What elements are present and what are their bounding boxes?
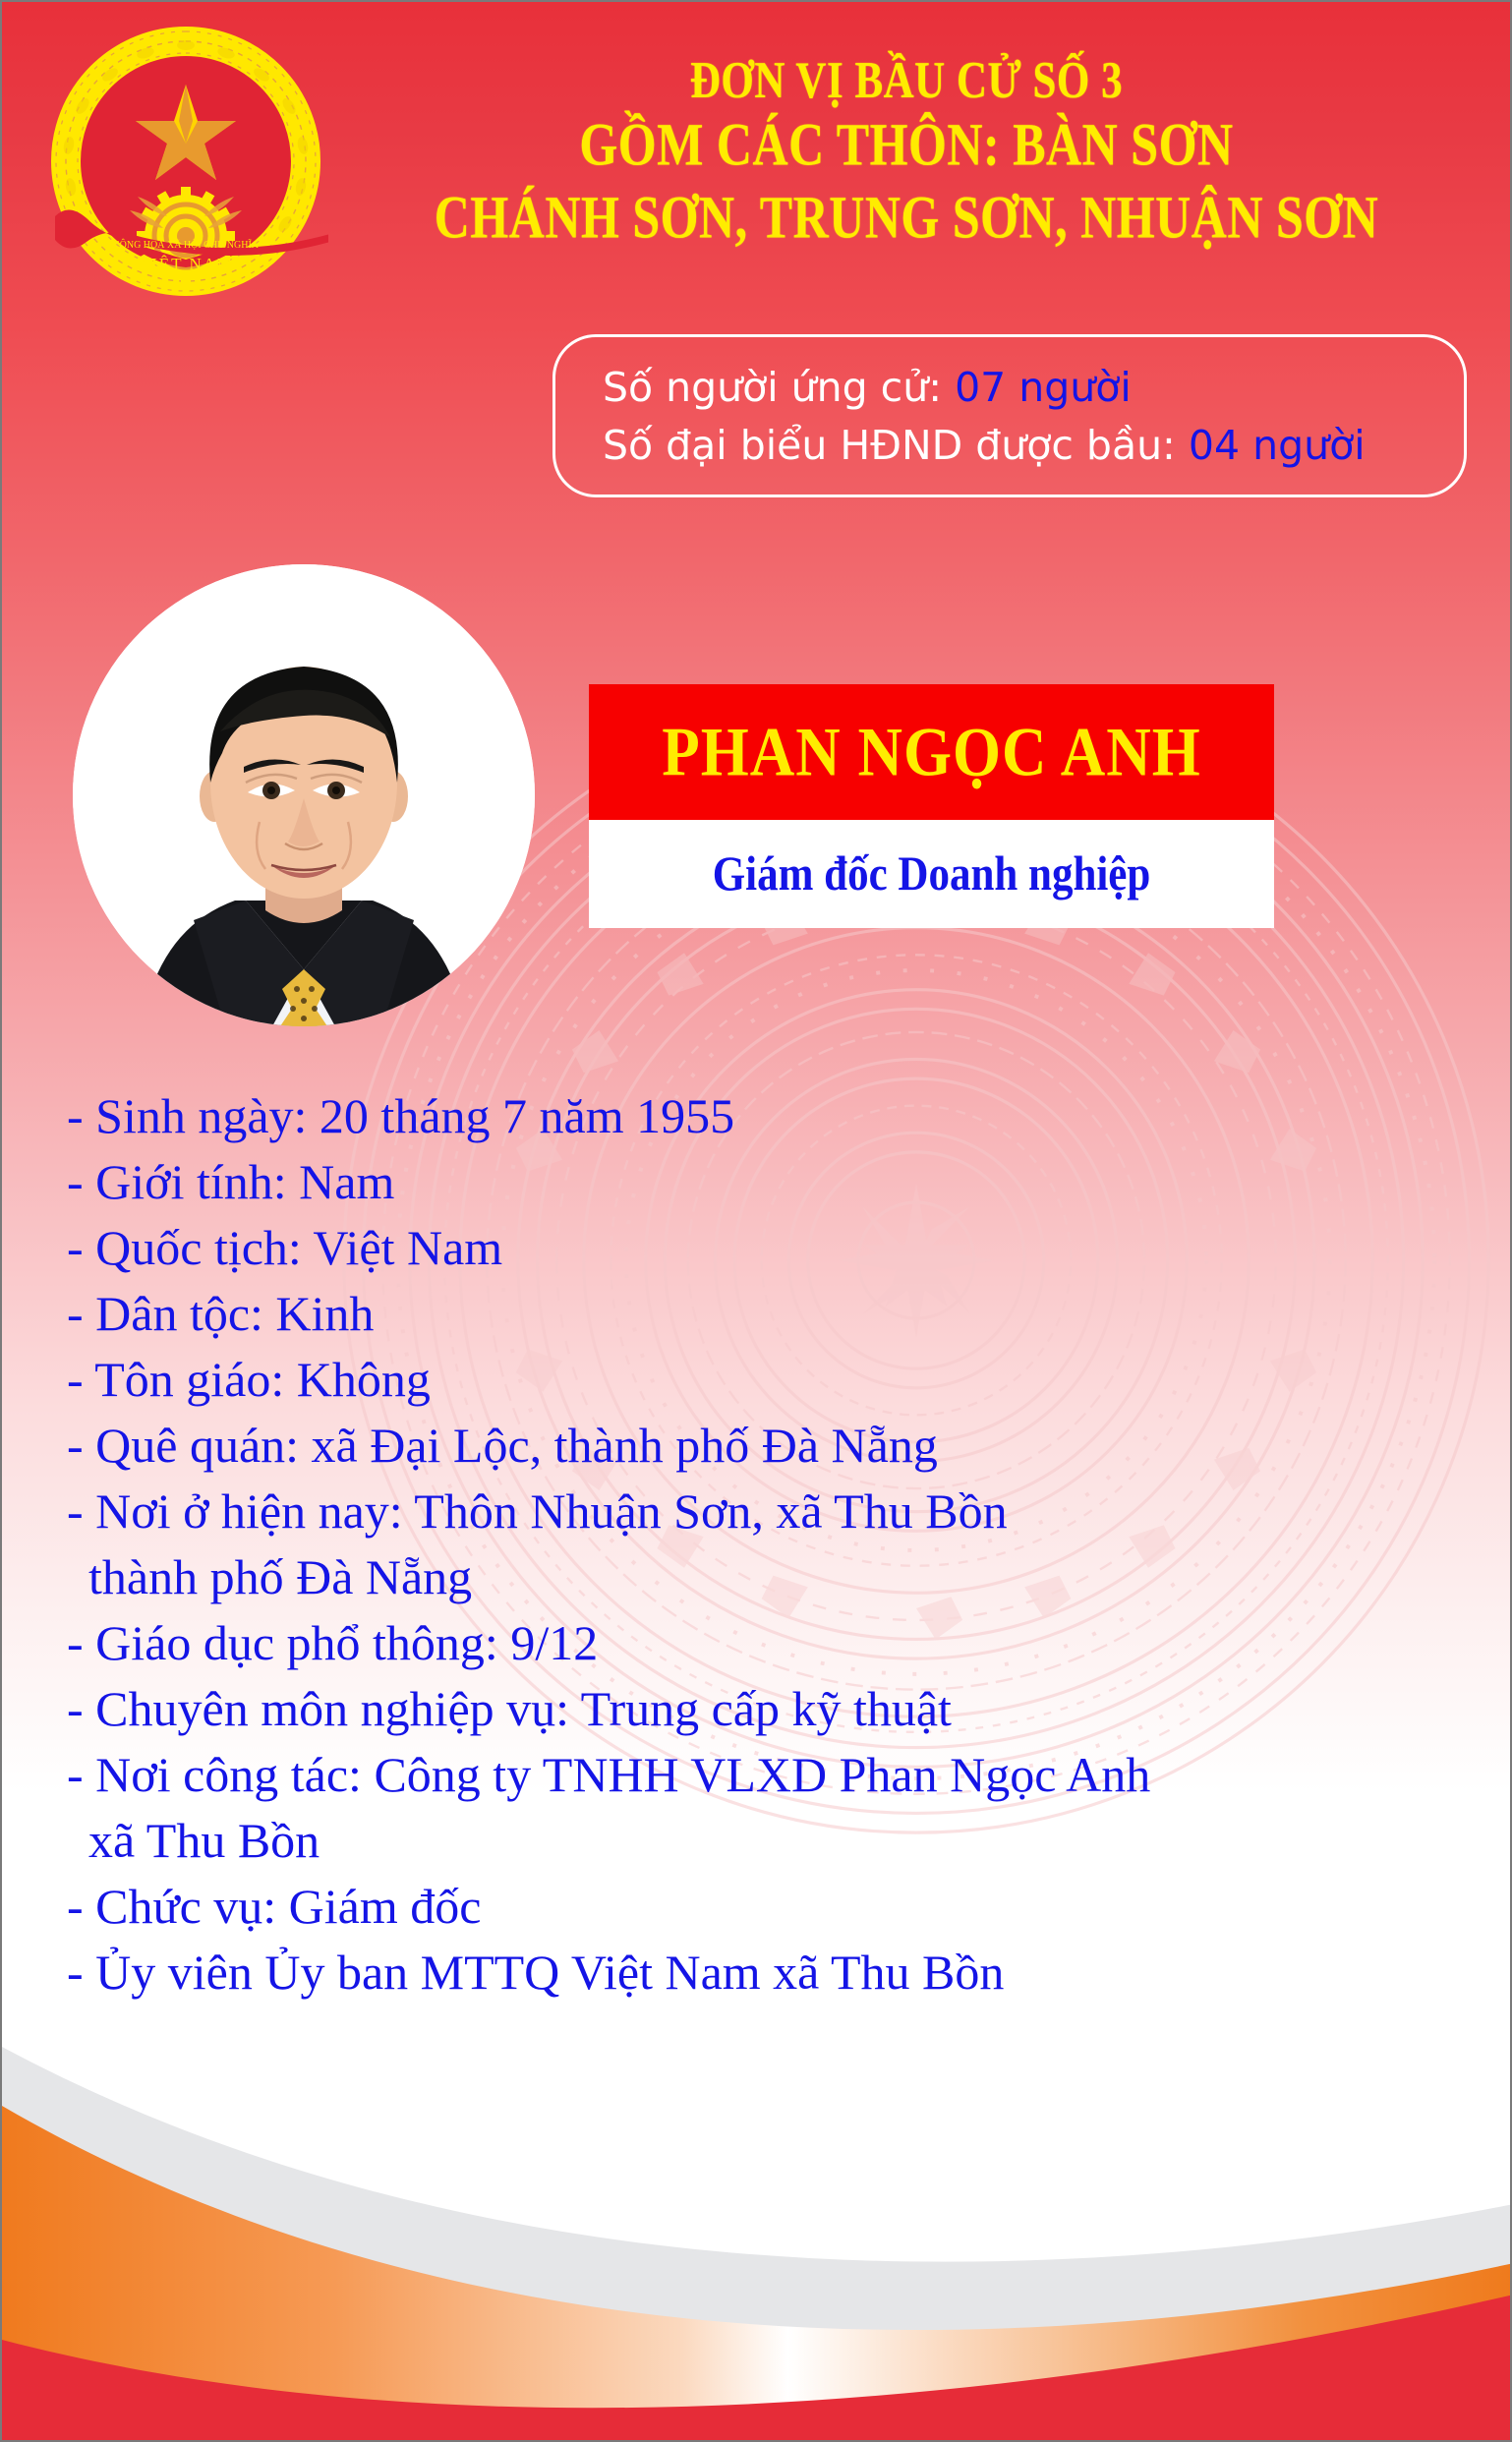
- candidate-name-block: PHAN NGỌC ANH Giám đốc Doanh nghiệp: [589, 684, 1274, 928]
- bio-line: - Dân tộc: Kinh: [67, 1281, 1473, 1347]
- candidate-name-banner: PHAN NGỌC ANH: [589, 684, 1274, 820]
- vietnam-national-emblem-icon: CỘNG HOÀ XÃ HỘI CHỦ NGHĨA VIỆT NAM: [43, 24, 328, 319]
- candidate-role-banner: Giám đốc Doanh nghiệp: [589, 820, 1274, 928]
- bio-line: - Chức vụ: Giám đốc: [67, 1874, 1473, 1940]
- election-counts-box: Số người ứng cử: 07 người Số đại biểu HĐ…: [552, 334, 1467, 497]
- candidate-role: Giám đốc Doanh nghiệp: [713, 846, 1151, 901]
- bio-line: - Giáo dục phổ thông: 9/12: [67, 1610, 1473, 1676]
- candidate-portrait-illustration: [73, 564, 535, 1026]
- emblem-ribbon-line2: VIỆT NAM: [138, 255, 234, 273]
- bio-line: - Quê quán: xã Đại Lộc, thành phố Đà Nẵn…: [67, 1413, 1473, 1479]
- emblem-ribbon-line1: CỘNG HOÀ XÃ HỘI CHỦ NGHĨA: [113, 239, 260, 251]
- seats-count-label: Số đại biểu HĐND được bầu:: [603, 422, 1176, 469]
- candidates-count-row: Số người ứng cử: 07 người: [603, 359, 1464, 417]
- election-candidate-poster: CỘNG HOÀ XÃ HỘI CHỦ NGHĨA VIỆT NAM ĐƠN V…: [0, 0, 1512, 2442]
- bio-line: - Giới tính: Nam: [67, 1149, 1473, 1215]
- bio-line-continuation: thành phố Đà Nẵng: [67, 1544, 1473, 1610]
- header-line-villages-2: CHÁNH SƠN, TRUNG SƠN, NHUẬN SƠN: [326, 181, 1486, 253]
- candidate-bio-list: - Sinh ngày: 20 tháng 7 năm 1955 - Giới …: [67, 1083, 1473, 2006]
- seats-count-row: Số đại biểu HĐND được bầu: 04 người: [603, 417, 1464, 475]
- bottom-decorative-waves: [2, 2027, 1512, 2440]
- bio-line: - Quốc tịch: Việt Nam: [67, 1215, 1473, 1281]
- bio-line: - Ủy viên Ủy ban MTTQ Việt Nam xã Thu Bồ…: [67, 1940, 1473, 2006]
- bio-line: - Chuyên môn nghiệp vụ: Trung cấp kỹ thu…: [67, 1676, 1473, 1742]
- bio-line: - Tôn giáo: Không: [67, 1347, 1473, 1413]
- candidates-count-value: 07 người: [955, 364, 1132, 411]
- bio-line: - Nơi công tác: Công ty TNHH VLXD Phan N…: [67, 1742, 1473, 1808]
- candidate-name: PHAN NGỌC ANH: [662, 712, 1201, 792]
- candidate-photo: [73, 564, 535, 1026]
- header-line-constituency: ĐƠN VỊ BẦU CỬ SỐ 3: [326, 49, 1486, 114]
- bio-line: - Nơi ở hiện nay: Thôn Nhuận Sơn, xã Thu…: [67, 1479, 1473, 1544]
- candidates-count-label: Số người ứng cử:: [603, 364, 942, 411]
- seats-count-value: 04 người: [1189, 422, 1366, 469]
- poster-header: ĐƠN VỊ BẦU CỬ SỐ 3 GỒM CÁC THÔN: BÀN SƠN…: [326, 49, 1486, 240]
- bio-line: - Sinh ngày: 20 tháng 7 năm 1955: [67, 1083, 1473, 1149]
- bio-line-continuation: xã Thu Bồn: [67, 1808, 1473, 1874]
- header-line-villages-1: GỒM CÁC THÔN: BÀN SƠN: [326, 108, 1486, 180]
